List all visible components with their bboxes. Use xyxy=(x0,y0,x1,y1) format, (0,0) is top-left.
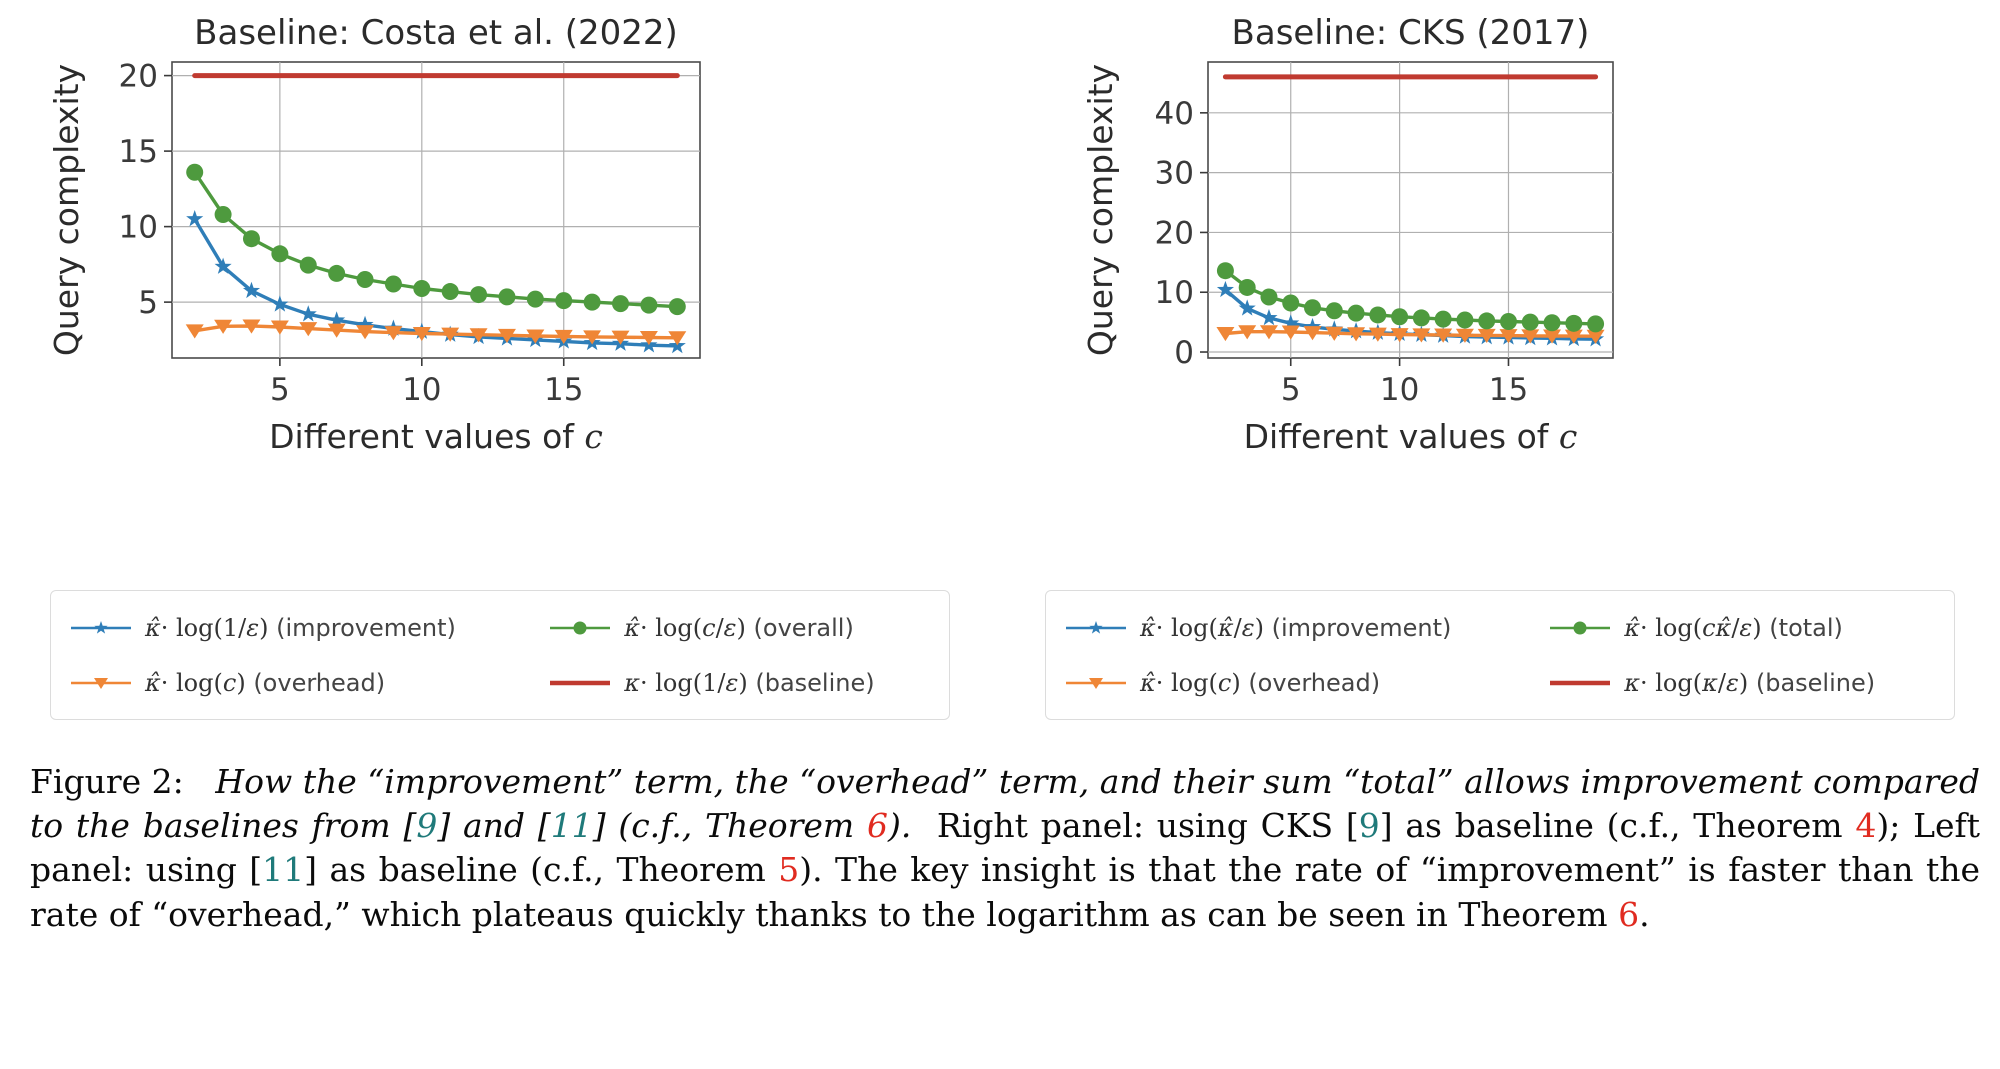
legend-entry-total[interactable]: κ̂· log(cκ̂/ε) (total) xyxy=(1548,605,1936,650)
data-point-marker xyxy=(385,276,402,293)
legend-label: κ· log(κ/ε) (baseline) xyxy=(1624,669,1875,697)
legend-label: κ̂· log(c/ε) (overall) xyxy=(624,614,854,642)
legend-key-swatch xyxy=(1548,619,1612,637)
data-point-marker xyxy=(1217,262,1234,279)
figure-caption: Figure 2: How the “improvement” term, th… xyxy=(30,760,1980,937)
y-tick-label: 20 xyxy=(1155,215,1194,251)
legend-marker-icon xyxy=(1064,674,1128,692)
data-point-marker xyxy=(1260,289,1277,306)
x-axis-label: Different values of c xyxy=(269,417,603,456)
legend-entry-overhead[interactable]: κ̂· log(c) (overhead) xyxy=(1064,660,1512,705)
legends-row: κ̂· log(1/ε) (improvement)κ̂· log(c/ε) (… xyxy=(0,590,2000,720)
data-point-marker xyxy=(1522,314,1539,331)
data-point-marker xyxy=(1369,306,1386,323)
data-point-marker xyxy=(1348,305,1365,322)
legend-key-swatch xyxy=(1064,619,1128,637)
legend-key-swatch xyxy=(1548,674,1612,692)
legend-key-swatch xyxy=(548,674,612,692)
data-point-marker xyxy=(498,288,515,305)
data-point-marker xyxy=(357,271,374,288)
legend-entry-overall[interactable]: κ̂· log(c/ε) (overall) xyxy=(548,605,931,650)
legend-key-swatch xyxy=(69,674,133,692)
legend-marker-icon xyxy=(1548,619,1612,637)
x-axis-label: Different values of c xyxy=(1244,417,1578,456)
data-point-marker xyxy=(243,230,260,247)
data-point-marker xyxy=(1326,302,1343,319)
legend-marker-icon xyxy=(1548,674,1612,692)
legend-label: κ̂· log(cκ̂/ε) (total) xyxy=(1624,614,1843,642)
legend-label: κ̂· log(c) (overhead) xyxy=(1140,669,1380,697)
legend-entry-overhead[interactable]: κ̂· log(c) (overhead) xyxy=(69,660,512,705)
plot-title: Baseline: Costa et al. (2022) xyxy=(194,13,678,53)
data-point-marker xyxy=(584,294,601,311)
data-point-marker xyxy=(1544,314,1561,331)
figure-number: Figure 2: xyxy=(30,762,184,801)
legend-marker-icon xyxy=(69,619,133,637)
data-point-marker xyxy=(1435,311,1452,328)
x-tick-label: 5 xyxy=(1281,372,1301,408)
data-point-marker xyxy=(328,265,345,282)
left-plot-svg: Baseline: Costa et al. (2022)51015205101… xyxy=(0,0,1000,590)
y-tick-label: 20 xyxy=(119,59,158,95)
legend-marker-icon xyxy=(548,674,612,692)
plot-panels: Baseline: Costa et al. (2022)51015205101… xyxy=(0,0,2000,590)
data-point-marker xyxy=(1413,309,1430,326)
data-point-marker xyxy=(470,286,487,303)
y-tick-label: 30 xyxy=(1155,156,1194,192)
right-plot-svg: Baseline: CKS (2017)01020304051015Differ… xyxy=(1000,0,2000,590)
data-point-marker xyxy=(612,295,629,312)
data-point-marker xyxy=(271,245,288,262)
legend-label: κ̂· log(κ̂/ε) (improvement) xyxy=(1140,614,1451,642)
plot-title: Baseline: CKS (2017) xyxy=(1232,13,1590,53)
data-point-marker xyxy=(300,257,317,274)
legend-marker-icon xyxy=(69,674,133,692)
legend-marker-icon xyxy=(548,619,612,637)
data-point-marker xyxy=(1587,315,1604,332)
legend-entry-improvement[interactable]: κ̂· log(κ̂/ε) (improvement) xyxy=(1064,605,1512,650)
data-point-marker xyxy=(1239,279,1256,296)
y-axis-label: Query complexity xyxy=(1081,64,1120,356)
figure-container: Baseline: Costa et al. (2022)51015205101… xyxy=(0,0,2000,1069)
data-point-marker xyxy=(555,292,572,309)
data-point-marker xyxy=(1304,299,1321,316)
data-point-marker xyxy=(1565,315,1582,332)
data-point-marker xyxy=(215,206,232,223)
data-point-marker xyxy=(1282,294,1299,311)
legend-entry-baseline[interactable]: κ· log(1/ε) (baseline) xyxy=(548,660,931,705)
data-point-marker xyxy=(1478,312,1495,329)
x-tick-label: 5 xyxy=(270,372,290,408)
legend-key-swatch xyxy=(1064,674,1128,692)
left-legend-box: κ̂· log(1/ε) (improvement)κ̂· log(c/ε) (… xyxy=(50,590,950,720)
data-point-marker xyxy=(527,291,544,308)
data-point-marker xyxy=(186,164,203,181)
right-legend-box: κ̂· log(κ̂/ε) (improvement)κ̂· log(cκ̂/ε… xyxy=(1045,590,1955,720)
data-point-marker xyxy=(1500,313,1517,330)
legend-entry-improvement[interactable]: κ̂· log(1/ε) (improvement) xyxy=(69,605,512,650)
legend-label: κ̂· log(c) (overhead) xyxy=(145,669,385,697)
legend-key-swatch xyxy=(548,619,612,637)
data-point-marker xyxy=(640,297,657,314)
right-plot-panel: Baseline: CKS (2017)01020304051015Differ… xyxy=(1000,0,2000,590)
right-legend-slot: κ̂· log(κ̂/ε) (improvement)κ̂· log(cκ̂/ε… xyxy=(1000,590,2000,720)
x-tick-label: 10 xyxy=(1380,372,1419,408)
left-plot-panel: Baseline: Costa et al. (2022)51015205101… xyxy=(0,0,1000,590)
x-tick-label: 15 xyxy=(544,372,583,408)
data-point-marker xyxy=(1456,312,1473,329)
plot-frame xyxy=(172,62,700,358)
left-legend-slot: κ̂· log(1/ε) (improvement)κ̂· log(c/ε) (… xyxy=(0,590,1000,720)
data-point-marker xyxy=(442,283,459,300)
x-tick-label: 10 xyxy=(402,372,441,408)
legend-label: κ̂· log(1/ε) (improvement) xyxy=(145,614,456,642)
y-tick-label: 5 xyxy=(138,285,158,321)
y-tick-label: 10 xyxy=(1155,275,1194,311)
y-tick-label: 10 xyxy=(119,210,158,246)
y-axis-label: Query complexity xyxy=(47,64,86,356)
legend-label: κ· log(1/ε) (baseline) xyxy=(624,669,874,697)
y-tick-label: 40 xyxy=(1155,96,1194,132)
data-point-marker xyxy=(669,298,686,315)
legend-entry-baseline[interactable]: κ· log(κ/ε) (baseline) xyxy=(1548,660,1936,705)
data-point-marker xyxy=(413,280,430,297)
y-tick-label: 15 xyxy=(119,134,158,170)
data-point-marker xyxy=(1391,308,1408,325)
legend-key-swatch xyxy=(69,619,133,637)
legend-marker-icon xyxy=(1064,619,1128,637)
y-tick-label: 0 xyxy=(1174,335,1194,371)
x-tick-label: 15 xyxy=(1489,372,1528,408)
